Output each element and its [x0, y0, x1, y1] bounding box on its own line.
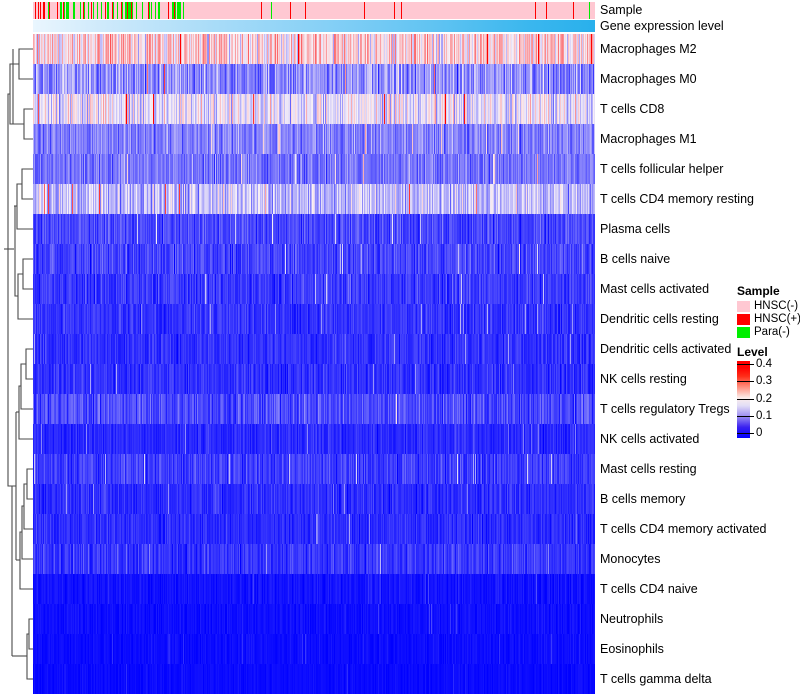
sample-annotation-tick	[57, 2, 58, 19]
heatmap-row-canvas	[33, 34, 595, 64]
level-tick-mark	[737, 381, 754, 382]
row-label: NK cells activated	[600, 433, 699, 446]
heatmap-row	[33, 514, 595, 544]
heatmap-row-canvas	[33, 604, 595, 634]
heatmap-row-canvas	[33, 154, 595, 184]
sample-legend-item: Para(-)	[737, 326, 800, 339]
sample-annotation-tick	[132, 2, 133, 19]
row-label: Dendritic cells activated	[600, 343, 731, 356]
sample-annotation-tick	[38, 2, 39, 19]
sample-annotation-tick	[136, 2, 137, 19]
sample-annotation-tick	[35, 2, 36, 19]
heatmap-row	[33, 274, 595, 304]
sample-annotation-tick	[183, 2, 184, 19]
row-label: Mast cells activated	[600, 283, 709, 296]
heatmap-row-canvas	[33, 214, 595, 244]
level-tick-label: 0.2	[756, 394, 772, 406]
sample-annotation-tick	[68, 2, 69, 19]
heatmap-row-canvas	[33, 64, 595, 94]
heatmap-row	[33, 244, 595, 274]
heatmap-row	[33, 574, 595, 604]
legend-swatch	[737, 327, 750, 338]
heatmap-row-canvas	[33, 574, 595, 604]
row-label: T cells regulatory Tregs	[600, 403, 730, 416]
legend-swatch	[737, 314, 750, 325]
sample-annotation-tick	[88, 2, 89, 19]
row-label: Eosinophils	[600, 643, 664, 656]
heatmap-body	[33, 34, 595, 690]
heatmap-row-canvas	[33, 184, 595, 214]
dendrogram-svg	[0, 34, 33, 690]
heatmap-row	[33, 544, 595, 574]
sample-legend-title: Sample	[737, 285, 800, 299]
heatmap-row-canvas	[33, 334, 595, 364]
sample-annotation-tick	[180, 2, 181, 19]
heatmap-row	[33, 154, 595, 184]
sample-annotation-tick	[61, 2, 62, 19]
sample-annotation-tick	[105, 2, 106, 19]
gene-expression-label: Gene expression level	[600, 20, 724, 33]
row-label: Dendritic cells resting	[600, 313, 719, 326]
level-tick-mark	[737, 416, 754, 417]
sample-annotation-tick	[91, 2, 92, 19]
sample-annotation-tick	[64, 2, 65, 19]
heatmap-row	[33, 364, 595, 394]
row-label: B cells naive	[600, 253, 670, 266]
heatmap-row	[33, 424, 595, 454]
row-label: Plasma cells	[600, 223, 670, 236]
sample-annotation-tick	[49, 2, 50, 19]
sample-annotation-tick	[589, 2, 590, 19]
level-tick-mark	[737, 433, 754, 434]
sample-annotation-tick	[40, 2, 41, 19]
sample-annotation-tick	[44, 2, 45, 19]
row-dendrogram	[0, 34, 33, 690]
level-tick-label: 0.4	[756, 359, 772, 371]
sample-annotation-tick	[151, 2, 152, 19]
sample-annotation-tick	[168, 2, 169, 19]
heatmap-row-canvas	[33, 394, 595, 424]
level-tick-label: 0	[756, 428, 762, 440]
heatmap-row-canvas	[33, 244, 595, 274]
sample-annotation-tick	[74, 2, 75, 19]
sample-annotation-tick	[159, 2, 160, 19]
sample-legend-item: HNSC(+)	[737, 313, 800, 326]
heatmap-row	[33, 64, 595, 94]
heatmap-row	[33, 664, 595, 694]
row-label: B cells memory	[600, 493, 685, 506]
row-label: T cells follicular helper	[600, 163, 723, 176]
heatmap-figure: Sample Gene expression level Macrophages…	[0, 0, 800, 700]
sample-annotation-tick	[113, 2, 114, 19]
heatmap-row	[33, 124, 595, 154]
sample-annotation-tick	[101, 2, 102, 19]
row-label: Mast cells resting	[600, 463, 697, 476]
heatmap-row-canvas	[33, 634, 595, 664]
sample-annotation-tick	[93, 2, 94, 19]
row-label: Macrophages M2	[600, 43, 697, 56]
heatmap-row	[33, 184, 595, 214]
sample-annotation-tick	[401, 2, 402, 19]
row-label: T cells CD4 memory activated	[600, 523, 767, 536]
heatmap-row-canvas	[33, 664, 595, 694]
sample-annotation-tick	[84, 2, 85, 19]
level-legend: Level 0.40.30.20.10	[737, 346, 800, 438]
gene-expression-annotation-bar	[33, 20, 595, 32]
sample-annotation-tick	[117, 2, 118, 19]
sample-annotation-tick	[97, 2, 98, 19]
row-label: Macrophages M1	[600, 133, 697, 146]
sample-annotation-tick	[175, 2, 176, 19]
sample-annotation-tick	[546, 2, 547, 19]
legend-item-label: Para(-)	[754, 327, 790, 339]
legend-item-label: HNSC(-)	[754, 301, 798, 313]
row-label: T cells gamma delta	[600, 673, 712, 686]
sample-annotation-tick	[155, 2, 156, 19]
sample-legend-items: HNSC(-)HNSC(+)Para(-)	[737, 300, 800, 339]
sample-annotation-tick	[573, 2, 574, 19]
legend-panel: Sample HNSC(-)HNSC(+)Para(-) Level 0.40.…	[737, 285, 800, 438]
heatmap-row-canvas	[33, 274, 595, 304]
heatmap-row	[33, 634, 595, 664]
level-colorbar-wrap: 0.40.30.20.10	[737, 361, 800, 438]
sample-annotation-tick	[142, 2, 143, 19]
heatmap-row	[33, 604, 595, 634]
heatmap-row	[33, 304, 595, 334]
row-label: T cells CD4 memory resting	[600, 193, 754, 206]
level-tick-mark	[737, 364, 754, 365]
heatmap-row-canvas	[33, 424, 595, 454]
sample-annotation-tick	[364, 2, 365, 19]
level-tick-label: 0.1	[756, 411, 772, 423]
legend-item-label: HNSC(+)	[754, 314, 800, 326]
heatmap-row-canvas	[33, 454, 595, 484]
sample-annotation-tick	[261, 2, 262, 19]
sample-annotation-tick	[122, 2, 123, 19]
sample-annotation-tick	[271, 2, 272, 19]
legend-swatch	[737, 301, 750, 312]
sample-legend-item: HNSC(-)	[737, 300, 800, 313]
row-label: Monocytes	[600, 553, 660, 566]
sample-annotation-label: Sample	[600, 4, 642, 17]
heatmap-row-canvas	[33, 514, 595, 544]
heatmap-row	[33, 334, 595, 364]
sample-annotation-tick	[394, 2, 395, 19]
heatmap-row-canvas	[33, 94, 595, 124]
heatmap-row	[33, 214, 595, 244]
heatmap-row-canvas	[33, 124, 595, 154]
row-label: Macrophages M0	[600, 73, 697, 86]
heatmap-row-canvas	[33, 364, 595, 394]
sample-annotation-bar	[33, 2, 595, 19]
row-label: T cells CD8	[600, 103, 664, 116]
row-label: Neutrophils	[600, 613, 663, 626]
heatmap-row	[33, 94, 595, 124]
level-tick-label: 0.3	[756, 376, 772, 388]
heatmap-row-canvas	[33, 544, 595, 574]
heatmap-row	[33, 394, 595, 424]
level-tick-mark	[737, 399, 754, 400]
heatmap-row	[33, 34, 595, 64]
heatmap-row-canvas	[33, 304, 595, 334]
row-label: NK cells resting	[600, 373, 687, 386]
sample-annotation-tick	[535, 2, 536, 19]
row-label: T cells CD4 naive	[600, 583, 698, 596]
sample-annotation-tick	[305, 2, 306, 19]
heatmap-row	[33, 484, 595, 514]
sample-annotation-tick	[290, 2, 291, 19]
heatmap-row	[33, 454, 595, 484]
sample-annotation-tick	[149, 2, 150, 19]
sample-annotation-tick	[80, 2, 81, 19]
heatmap-row-canvas	[33, 484, 595, 514]
sample-annotation-tick	[108, 2, 109, 19]
